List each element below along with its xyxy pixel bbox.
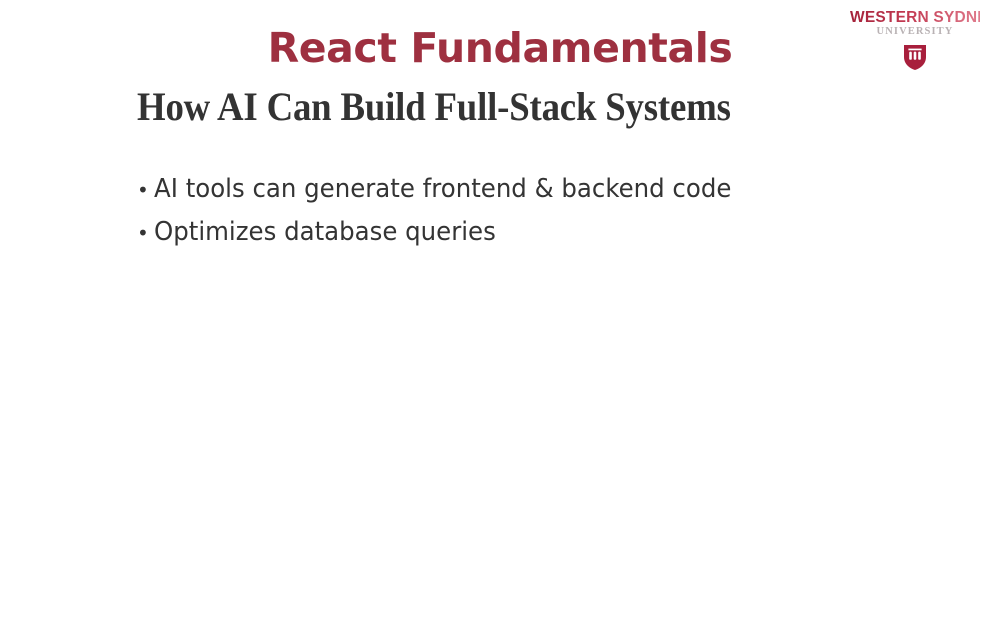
slide-subtitle: How AI Can Build Full-Stack Systems xyxy=(137,84,873,130)
list-item: • AI tools can generate frontend & backe… xyxy=(137,168,937,211)
bullet-text: AI tools can generate frontend & backend… xyxy=(154,168,731,210)
slide-canvas: WESTERN SYDNEY UNIVERSITY React Fundamen… xyxy=(0,0,1000,624)
slide-title: React Fundamentals xyxy=(0,26,1000,71)
bullet-dot-icon: • xyxy=(137,212,154,254)
bullet-dot-icon: • xyxy=(137,169,154,211)
bullet-list: • AI tools can generate frontend & backe… xyxy=(137,168,937,254)
bullet-text: Optimizes database queries xyxy=(154,211,496,253)
list-item: • Optimizes database queries xyxy=(137,211,937,254)
logo-wordmark: WESTERN SYDNEY xyxy=(850,10,980,26)
